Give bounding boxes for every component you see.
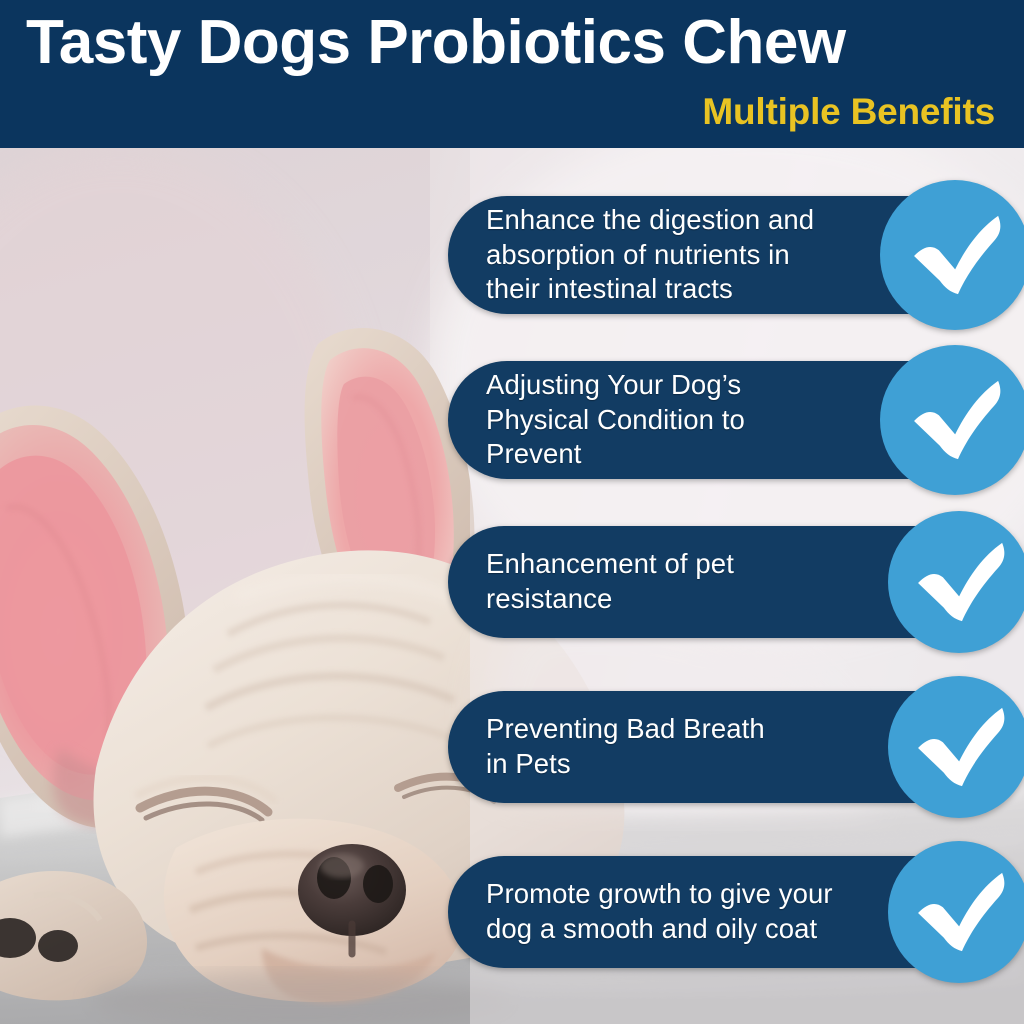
benefit-item[interactable]: Promote growth to give your dog a smooth… xyxy=(448,856,1024,968)
benefit-text-line: their intestinal tracts xyxy=(486,272,916,307)
benefit-item[interactable]: Preventing Bad Breath in Pets xyxy=(448,691,1024,803)
page-title: Tasty Dogs Probiotics Chew xyxy=(26,2,1011,84)
check-icon-glyph xyxy=(910,212,1006,298)
benefit-item[interactable]: Adjusting Your Dog’s Physical Condition … xyxy=(448,361,1024,479)
benefit-text-line: Prevent xyxy=(486,437,916,472)
benefit-text-line: Physical Condition to xyxy=(486,403,916,438)
header-subtitle: Multiple Benefits xyxy=(702,90,995,134)
benefit-text: Preventing Bad Breath in Pets xyxy=(486,691,916,803)
product-benefits-poster: Tasty Dogs Probiotics Chew Multiple Bene… xyxy=(0,0,1024,1024)
benefit-text-line: dog a smooth and oily coat xyxy=(486,912,916,947)
benefit-text-line: Promote growth to give your xyxy=(486,877,916,912)
benefit-item[interactable]: Enhance the digestion and absorption of … xyxy=(448,196,1024,314)
benefit-item[interactable]: Enhancement of pet resistance xyxy=(448,526,1024,638)
benefit-text-line: resistance xyxy=(486,582,916,617)
benefit-text-line: Preventing Bad Breath xyxy=(486,712,916,747)
header-band: Tasty Dogs Probiotics Chew Multiple Bene… xyxy=(0,0,1024,148)
benefit-text: Enhance the digestion and absorption of … xyxy=(486,196,916,314)
benefit-text-line: Adjusting Your Dog’s xyxy=(486,368,916,403)
check-icon-glyph xyxy=(914,704,1010,790)
benefit-text-line: Enhancement of pet xyxy=(486,547,916,582)
benefit-text: Enhancement of pet resistance xyxy=(486,526,916,638)
benefit-text-line: Enhance the digestion and xyxy=(486,203,916,238)
benefit-text: Promote growth to give your dog a smooth… xyxy=(486,856,916,968)
check-icon-glyph xyxy=(914,869,1010,955)
benefit-text: Adjusting Your Dog’s Physical Condition … xyxy=(486,361,916,479)
benefit-text-line: in Pets xyxy=(486,747,916,782)
check-icon-glyph xyxy=(910,377,1006,463)
check-icon-glyph xyxy=(914,539,1010,625)
benefit-text-line: absorption of nutrients in xyxy=(486,238,916,273)
